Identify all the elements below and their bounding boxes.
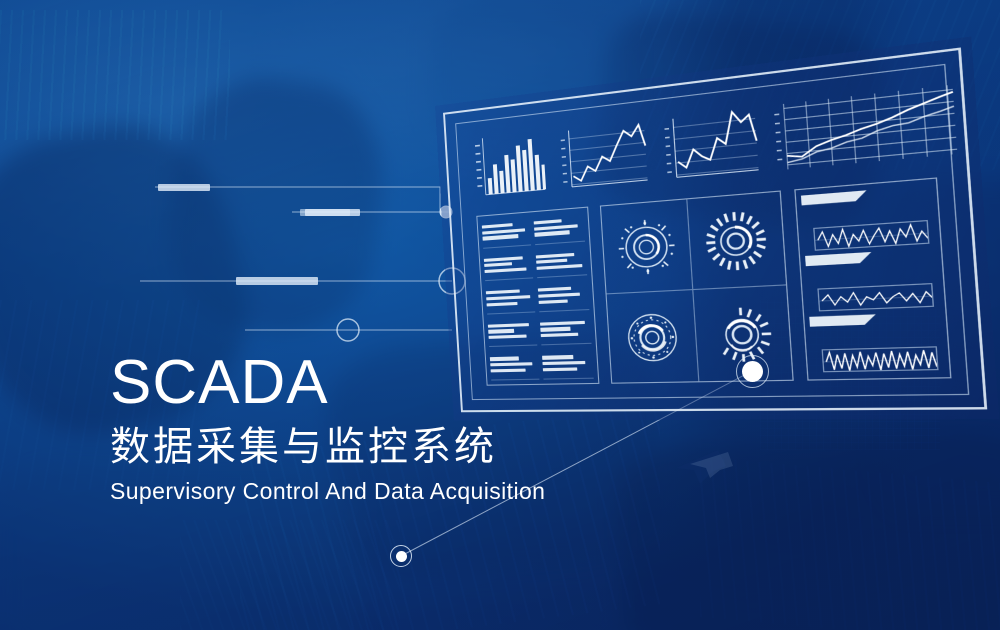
connector-highlight-bar: [158, 184, 210, 191]
list-item[interactable]: [533, 212, 585, 244]
waveform-channel-2[interactable]: [805, 249, 939, 312]
waveform-plot: [817, 283, 934, 311]
list-item[interactable]: [486, 284, 536, 315]
connector-highlight-bar: [236, 277, 318, 285]
waveform-channel-1[interactable]: [801, 186, 935, 251]
connector-node-bottom[interactable]: [390, 545, 412, 567]
headline-block: SCADA 数据采集与监控系统 Supervisory Control And …: [110, 352, 630, 504]
gauge-radial-dots[interactable]: [601, 199, 693, 294]
mini-line-chart-2[interactable]: [659, 100, 762, 187]
list-item[interactable]: [540, 315, 592, 346]
mini-bar-chart[interactable]: [471, 125, 547, 204]
waveform-panel[interactable]: [794, 177, 951, 380]
list-item[interactable]: [538, 281, 590, 312]
waveform-header-tab: [809, 314, 876, 327]
scada-banner: SCADA 数据采集与监控系统 Supervisory Control And …: [0, 0, 1000, 630]
connector-node-panel[interactable]: [742, 361, 763, 382]
list-item[interactable]: [535, 246, 587, 278]
connector-highlight-bar: [305, 209, 360, 216]
subtitle-cn: 数据采集与监控系统: [110, 426, 630, 468]
waveform-header-tab: [805, 252, 872, 266]
page-title: SCADA: [110, 352, 630, 414]
gauge-radial-blades[interactable]: [687, 192, 786, 290]
waveform-plot: [822, 347, 939, 373]
mini-line-chart-1[interactable]: [555, 113, 650, 196]
waveform-channel-3[interactable]: [809, 313, 944, 373]
list-item[interactable]: [481, 217, 531, 249]
waveform-header-tab: [801, 190, 868, 206]
waveform-plot: [813, 220, 929, 251]
list-item[interactable]: [484, 250, 534, 281]
subtitle-en: Supervisory Control And Data Acquisition: [110, 478, 630, 504]
list-item[interactable]: [488, 317, 538, 347]
mini-grid-line-chart[interactable]: [771, 77, 961, 177]
